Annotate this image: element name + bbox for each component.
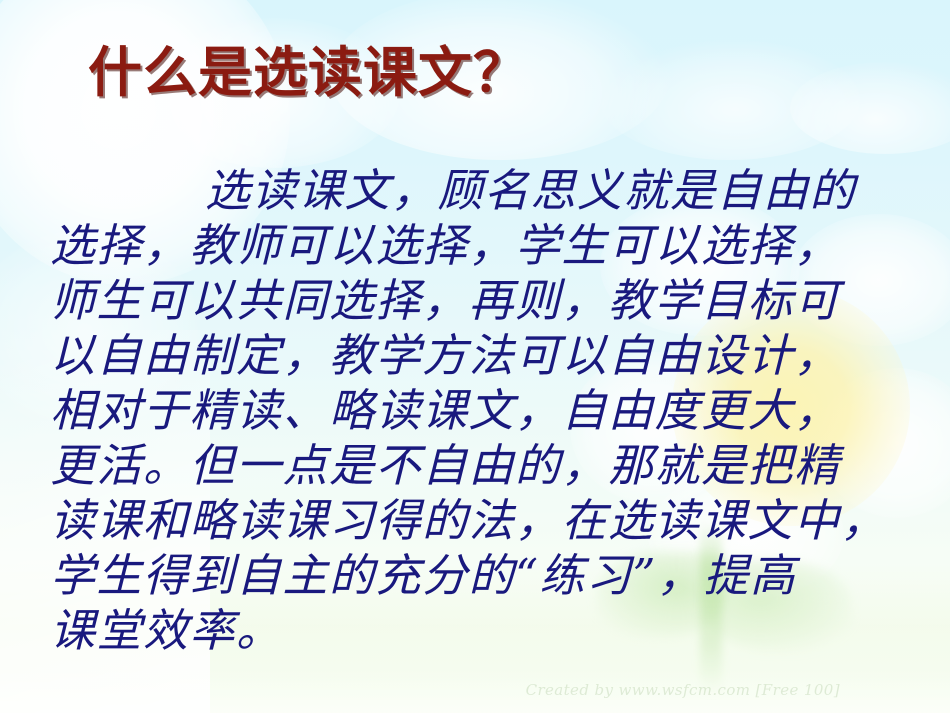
body-line: 学生得到自主的充分的“练习”，提高: [50, 548, 908, 603]
body-line: 课堂效率。: [50, 603, 908, 658]
body-line: 选择，教师可以选择，学生可以选择，: [50, 218, 908, 273]
body-line: 读课和略读课习得的法，在选读课文中，: [50, 493, 908, 548]
watermark-text: Created by www.wsfcm.com [Free 100]: [526, 681, 840, 699]
body-line: 以自由制定，教学方法可以自由设计，: [50, 328, 908, 383]
body-line: 选读课文，顾名思义就是自由的: [50, 163, 908, 218]
body-line: 更活。但一点是不自由的，那就是把精: [50, 438, 908, 493]
presentation-slide: 什么是选读课文？ 选读课文，顾名思义就是自由的 选择，教师可以选择，学生可以选择…: [0, 0, 950, 713]
body-line: 师生可以共同选择，再则，教学目标可: [50, 273, 908, 328]
body-line: 相对于精读、略读课文，自由度更大，: [50, 383, 908, 438]
slide-content: 什么是选读课文？ 选读课文，顾名思义就是自由的 选择，教师可以选择，学生可以选择…: [0, 0, 950, 713]
slide-body-text: 选读课文，顾名思义就是自由的 选择，教师可以选择，学生可以选择， 师生可以共同选…: [50, 163, 908, 658]
slide-title: 什么是选读课文？: [88, 44, 528, 102]
